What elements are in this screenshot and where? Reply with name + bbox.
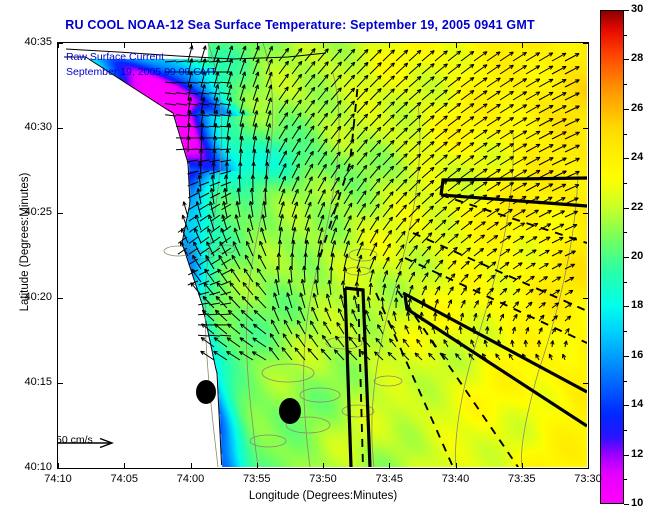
x-axis-title: Longitude (Degrees:Minutes) xyxy=(57,490,589,502)
colorbar-minor-tick xyxy=(624,183,627,184)
colorbar-tick-label: 18 xyxy=(631,299,643,311)
station-marker[interactable] xyxy=(279,398,301,424)
y-axis-tick xyxy=(58,43,63,44)
velocity-scale-bar: 50 cm/s xyxy=(57,434,150,446)
coastline xyxy=(64,57,222,465)
colorbar-minor-tick xyxy=(624,381,627,382)
colorbar-tick xyxy=(624,257,629,258)
colorbar-tick xyxy=(624,158,629,159)
colorbar-tick-label: 16 xyxy=(631,349,643,361)
colorbar-minor-tick xyxy=(624,134,627,135)
y-axis-tick-right xyxy=(583,383,588,384)
y-axis-tick-right xyxy=(583,298,588,299)
y-axis-tick-label: 40:10 xyxy=(4,461,52,473)
colorbar-minor-tick xyxy=(624,35,627,36)
x-axis-tick-top xyxy=(191,43,192,48)
x-axis-tick-label: 73:50 xyxy=(293,473,353,485)
y-axis-tick-right xyxy=(583,468,588,469)
y-axis-tick-label: 40:35 xyxy=(4,36,52,48)
colorbar-tick xyxy=(624,504,629,505)
y-axis-title: Latitude (Degrees:Minutes) xyxy=(19,132,31,352)
colorbar xyxy=(600,10,624,504)
colorbar-tick-label: 30 xyxy=(631,3,643,15)
y-axis-tick xyxy=(58,128,63,129)
x-axis-tick xyxy=(257,463,258,468)
y-axis-tick xyxy=(58,383,63,384)
colorbar-minor-tick xyxy=(624,232,627,233)
x-axis-tick-top xyxy=(522,43,523,48)
map-plot-area[interactable]: Raw Surface Current September 19, 2005 0… xyxy=(57,42,589,469)
colorbar-tick xyxy=(624,306,629,307)
x-axis-tick-label: 73:45 xyxy=(359,473,419,485)
y-axis-tick-right xyxy=(583,213,588,214)
x-axis-tick-top xyxy=(257,43,258,48)
right-arrow-icon xyxy=(57,436,122,450)
colorbar-tick xyxy=(624,455,629,456)
x-axis-tick-label: 73:35 xyxy=(492,473,552,485)
map-overlays xyxy=(58,43,587,467)
y-axis-tick xyxy=(58,468,63,469)
x-axis-tick-top xyxy=(124,43,125,48)
colorbar-minor-tick xyxy=(624,84,627,85)
colorbar-tick-label: 24 xyxy=(631,151,643,163)
x-axis-tick-label: 73:40 xyxy=(426,473,486,485)
colorbar-gradient xyxy=(601,11,623,503)
y-axis-tick-label: 40:15 xyxy=(4,376,52,388)
colorbar-tick xyxy=(624,208,629,209)
sst-map-figure: RU COOL NOAA-12 Sea Surface Temperature:… xyxy=(0,0,651,518)
x-axis-tick-top xyxy=(456,43,457,48)
x-axis-tick-top xyxy=(389,43,390,48)
figure-title: RU COOL NOAA-12 Sea Surface Temperature:… xyxy=(0,18,600,32)
x-axis-tick-top xyxy=(588,43,589,48)
y-axis-tick xyxy=(58,213,63,214)
x-axis-tick-label: 74:00 xyxy=(161,473,221,485)
colorbar-tick-label: 12 xyxy=(631,448,643,460)
x-axis-tick-label: 73:30 xyxy=(558,473,618,485)
y-axis-tick-right xyxy=(583,43,588,44)
station-marker[interactable] xyxy=(196,380,216,404)
colorbar-tick xyxy=(624,356,629,357)
colorbar-tick xyxy=(624,10,629,11)
x-axis-tick-label: 74:05 xyxy=(94,473,154,485)
x-axis-tick-label: 73:55 xyxy=(227,473,287,485)
x-axis-tick xyxy=(323,463,324,468)
shipping-lanes-solid xyxy=(345,178,587,467)
x-axis-tick-label: 74:10 xyxy=(28,473,88,485)
colorbar-tick-label: 14 xyxy=(631,398,643,410)
x-axis-tick xyxy=(522,463,523,468)
colorbar-tick xyxy=(624,109,629,110)
y-axis-tick-label: 40:30 xyxy=(4,121,52,133)
colorbar-tick xyxy=(624,59,629,60)
x-axis-tick xyxy=(389,463,390,468)
colorbar-minor-tick xyxy=(624,479,627,480)
colorbar-tick-label: 26 xyxy=(631,102,643,114)
x-axis-tick xyxy=(191,463,192,468)
colorbar-minor-tick xyxy=(624,282,627,283)
colorbar-tick-label: 28 xyxy=(631,52,643,64)
surface-current-vectors xyxy=(165,46,580,360)
x-axis-tick xyxy=(124,463,125,468)
y-axis-tick-label: 40:20 xyxy=(4,291,52,303)
y-axis-tick xyxy=(58,298,63,299)
x-axis-tick xyxy=(588,463,589,468)
colorbar-minor-tick xyxy=(624,331,627,332)
colorbar-tick-label: 10 xyxy=(631,497,643,509)
colorbar-tick-label: 20 xyxy=(631,250,643,262)
x-axis-tick-top xyxy=(323,43,324,48)
colorbar-tick xyxy=(624,405,629,406)
x-axis-tick xyxy=(456,463,457,468)
colorbar-tick-label: 22 xyxy=(631,201,643,213)
colorbar-minor-tick xyxy=(624,430,627,431)
y-axis-tick-right xyxy=(583,128,588,129)
y-axis-tick-label: 40:25 xyxy=(4,206,52,218)
